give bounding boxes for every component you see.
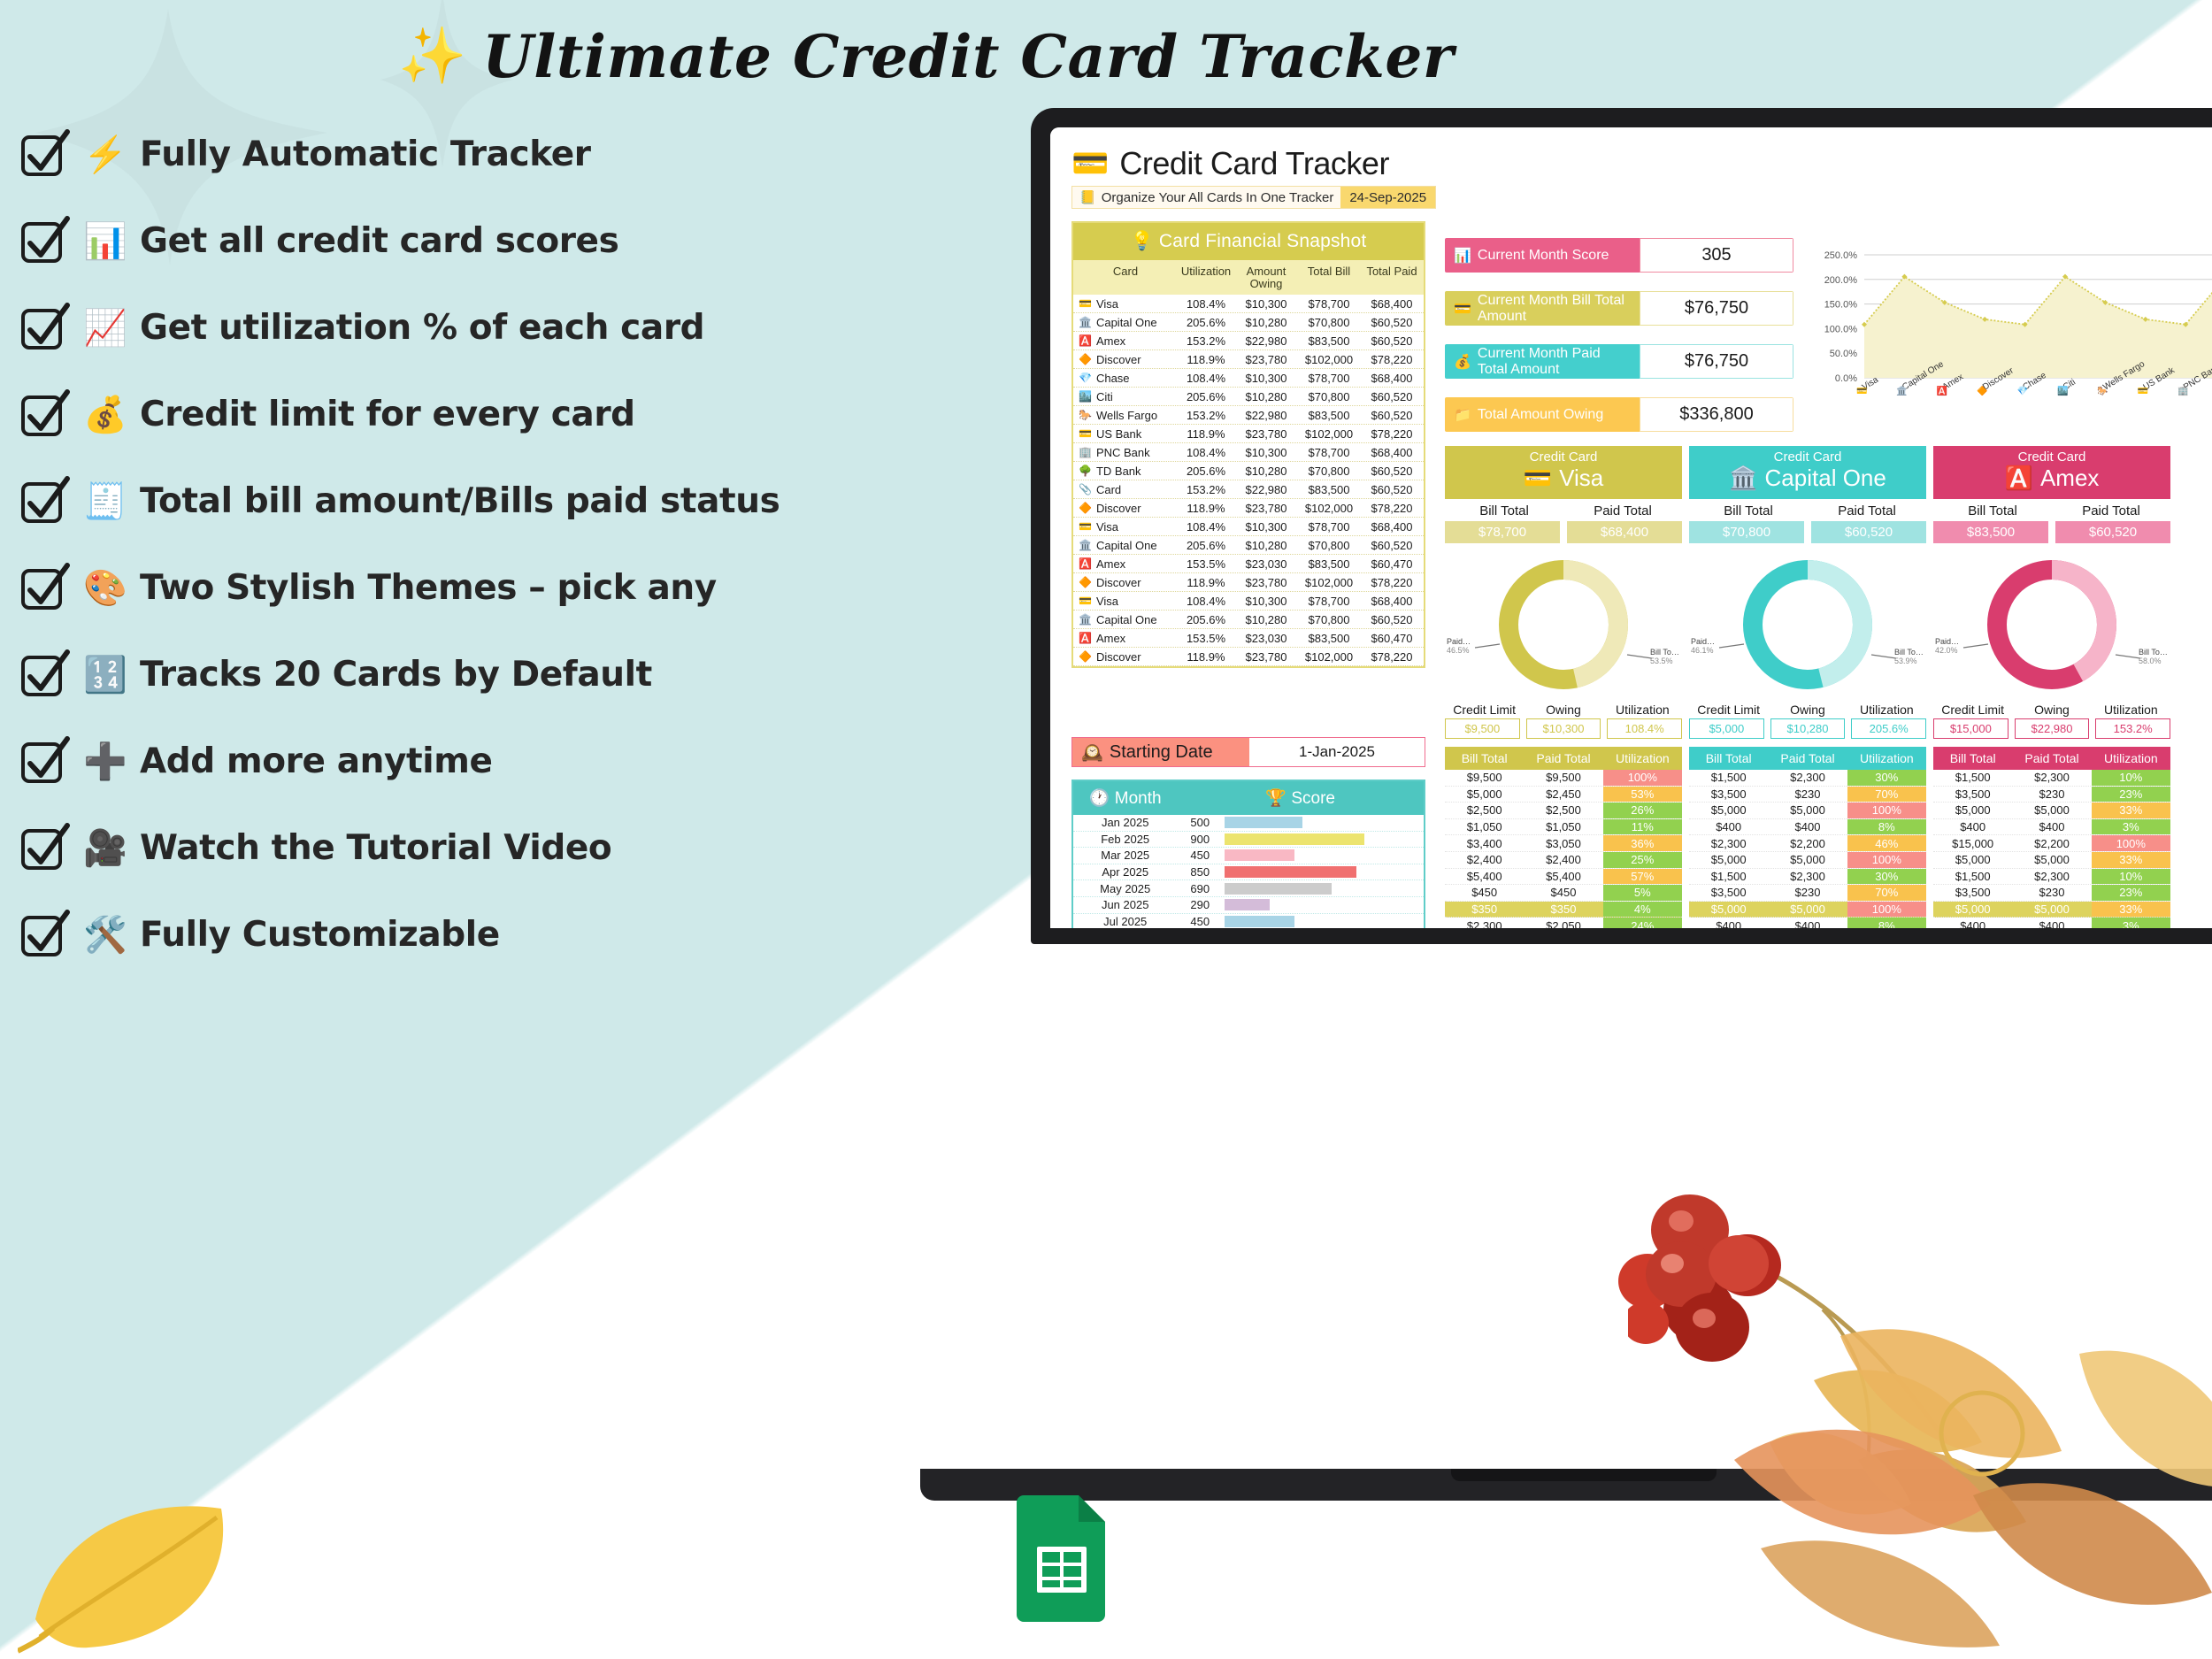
kpi-label: 💰 Current Month Paid Total Amount bbox=[1445, 344, 1640, 379]
snapshot-owing-cell: $23,780 bbox=[1234, 353, 1298, 366]
card-panel-title: 🅰️Amex bbox=[1933, 465, 2170, 492]
snapshot-paid-cell: $60,520 bbox=[1360, 539, 1424, 552]
snapshot-row: 💳US Bank118.9%$23,780$102,000$78,220 bbox=[1073, 425, 1424, 443]
donut-bill-label: Bill To…58.0% bbox=[2139, 648, 2168, 666]
card-name: Capital One bbox=[1096, 316, 1157, 329]
feature-item-4: 🧾Total bill amount/Bills paid status bbox=[19, 457, 657, 544]
snapshot-row: 🔶Discover118.9%$23,780$102,000$78,220 bbox=[1073, 499, 1424, 518]
paid-total-cell: $400 bbox=[2012, 819, 2091, 835]
paid-total-cell: $2,300 bbox=[2012, 869, 2091, 885]
snapshot-col-bill: Total Bill bbox=[1298, 260, 1360, 295]
checkbox-checked-icon bbox=[19, 128, 71, 180]
card-brand-icon: 💎 bbox=[1079, 372, 1092, 384]
feature-label: Two Stylish Themes – pick any bbox=[140, 568, 717, 608]
card-brand-icon: 💳 bbox=[1524, 465, 1552, 492]
snapshot-utilization-cell: 205.6% bbox=[1178, 390, 1234, 403]
snapshot-row: 💳Visa108.4%$10,300$78,700$68,400 bbox=[1073, 518, 1424, 536]
feature-checklist: ⚡Fully Automatic Tracker📊Get all credit … bbox=[19, 111, 657, 978]
checkbox-checked-icon bbox=[19, 649, 71, 700]
bill-total-label: Bill Total bbox=[1445, 503, 1563, 518]
score-bar-cell bbox=[1223, 883, 1424, 895]
snapshot-row: 🏢PNC Bank108.4%$10,300$78,700$68,400 bbox=[1073, 443, 1424, 462]
snapshot-owing-cell: $10,300 bbox=[1234, 595, 1298, 608]
card-name: Amex bbox=[1096, 557, 1125, 571]
paid-total-cell: $5,000 bbox=[1768, 803, 1847, 818]
checkbox-checked-icon bbox=[19, 562, 71, 613]
utilization-cell: 23% bbox=[2092, 787, 2170, 803]
card-table-row: $2,400$2,40025% bbox=[1445, 852, 1682, 869]
svg-text:🅰️: 🅰️ bbox=[1937, 385, 1947, 396]
snapshot-paid-cell: $60,520 bbox=[1360, 316, 1424, 329]
feature-item-6: 🔢Tracks 20 Cards by Default bbox=[19, 631, 657, 718]
kpi-current-month-paid-total: 💰 Current Month Paid Total Amount $76,75… bbox=[1445, 344, 1793, 379]
score-bar bbox=[1225, 817, 1302, 828]
month-cell: Feb 2025 bbox=[1073, 833, 1177, 846]
snapshot-paid-cell: $60,520 bbox=[1360, 465, 1424, 478]
score-bar bbox=[1225, 849, 1294, 861]
snapshot-row: 🔶Discover118.9%$23,780$102,000$78,220 bbox=[1073, 573, 1424, 592]
month-column-header: 🕐 Month bbox=[1073, 781, 1177, 815]
paid-total-cell: $230 bbox=[2012, 787, 2091, 803]
spreadsheet-dashboard: 💳 Credit Card Tracker 📒 Organize Your Al… bbox=[1050, 127, 2212, 928]
card-brand-icon: 🅰️ bbox=[1079, 334, 1092, 347]
score-bar-cell bbox=[1223, 899, 1424, 910]
snapshot-bill-cell: $78,700 bbox=[1298, 372, 1360, 385]
snapshot-paid-cell: $78,220 bbox=[1360, 427, 1424, 441]
laptop-screen: 💳 Credit Card Tracker 📒 Organize Your Al… bbox=[1050, 127, 2212, 928]
card-table-row: $2,500$2,50026% bbox=[1445, 803, 1682, 819]
card-table-row: $400$4003% bbox=[1933, 918, 2170, 928]
utilization-cell: 5% bbox=[1603, 885, 1682, 901]
card-table-row: $1,500$2,30030% bbox=[1689, 869, 1926, 886]
snapshot-owing-cell: $23,030 bbox=[1234, 632, 1298, 645]
month-score-row: May 2025690 bbox=[1073, 880, 1424, 897]
card-table-row: $350$3504% bbox=[1445, 902, 1682, 918]
snapshot-card-cell: 💳Visa bbox=[1073, 520, 1178, 534]
snapshot-card-cell: 🌳TD Bank bbox=[1073, 465, 1178, 478]
card-brand-icon: 🅰️ bbox=[2005, 465, 2033, 492]
card-name: US Bank bbox=[1096, 427, 1141, 441]
snapshot-owing-cell: $23,780 bbox=[1234, 650, 1298, 664]
card-table-row: $1,500$2,30010% bbox=[1933, 869, 2170, 886]
card-table-row: $3,400$3,05036% bbox=[1445, 835, 1682, 852]
card-name: Discover bbox=[1096, 576, 1141, 589]
paid-total-label: Paid Total bbox=[2052, 503, 2170, 518]
card-limit-labels: Credit LimitOwingUtilization bbox=[1933, 703, 2170, 717]
laptop-mockup: 💳 Credit Card Tracker 📒 Organize Your Al… bbox=[1031, 108, 2212, 944]
snapshot-bill-cell: $70,800 bbox=[1298, 390, 1360, 403]
paid-total-value: $60,520 bbox=[2055, 521, 2170, 543]
snapshot-card-cell: 🔶Discover bbox=[1073, 650, 1178, 664]
month-table-header: 🕐 Month 🏆 Score bbox=[1073, 781, 1424, 815]
snapshot-bill-cell: $83,500 bbox=[1298, 409, 1360, 422]
card-name: Visa bbox=[1096, 595, 1118, 608]
utilization-area-chart: 💳 Card 0.0%50.0%100.0%150.0%200.0%250.0%… bbox=[1813, 223, 2212, 440]
card-name: PNC Bank bbox=[1096, 446, 1150, 459]
score-bar-cell bbox=[1223, 833, 1424, 845]
feature-item-2: 📈Get utilization % of each card bbox=[19, 284, 657, 371]
kpi-label: 📊 Current Month Score bbox=[1445, 238, 1640, 273]
card-table-row: $2,300$2,20046% bbox=[1689, 835, 1926, 852]
card-panel-name: Capital One bbox=[1765, 465, 1886, 492]
card-brand-icon: 📎 bbox=[1079, 483, 1092, 495]
card-brand-icon: 🅰️ bbox=[1079, 632, 1092, 644]
card-limit-values: $5,000$10,280205.6% bbox=[1689, 718, 1926, 739]
paid-total-cell: $450 bbox=[1524, 885, 1602, 901]
feature-label: Watch the Tutorial Video bbox=[140, 828, 611, 868]
snapshot-row: 💎Chase108.4%$10,300$78,700$68,400 bbox=[1073, 369, 1424, 388]
card-total-values: $70,800$60,520 bbox=[1689, 521, 1926, 543]
card-limit-labels: Credit LimitOwingUtilization bbox=[1445, 703, 1682, 717]
snapshot-paid-cell: $60,520 bbox=[1360, 613, 1424, 626]
score-value: 450 bbox=[1177, 915, 1223, 928]
month-score-table: 🕐 Month 🏆 Score Jan 2025500Feb 2025900Ma… bbox=[1071, 780, 1425, 928]
owing-value: $22,980 bbox=[2015, 718, 2090, 739]
utilization-cell: 10% bbox=[2092, 770, 2170, 786]
month-score-row: Mar 2025450 bbox=[1073, 848, 1424, 864]
score-bar-cell bbox=[1223, 817, 1424, 828]
kpi-label: 💳 Current Month Bill Total Amount bbox=[1445, 291, 1640, 326]
snapshot-card-cell: 🏙️Citi bbox=[1073, 390, 1178, 403]
score-value: 290 bbox=[1177, 898, 1223, 911]
card-panel-subtitle: Credit Card bbox=[1689, 449, 1926, 465]
bill-total-cell: $3,500 bbox=[1689, 885, 1768, 901]
utilization-cell: 33% bbox=[2092, 902, 2170, 918]
bill-total-label: Bill Total bbox=[1689, 503, 1808, 518]
snapshot-bill-cell: $102,000 bbox=[1298, 650, 1360, 664]
snapshot-paid-cell: $68,400 bbox=[1360, 446, 1424, 459]
card-limit-values: $9,500$10,300108.4% bbox=[1445, 718, 1682, 739]
card-name: Capital One bbox=[1096, 539, 1157, 552]
snapshot-bill-cell: $83,500 bbox=[1298, 483, 1360, 496]
score-bar bbox=[1225, 833, 1364, 845]
feature-label: Tracks 20 Cards by Default bbox=[140, 655, 652, 695]
paid-total-cell: $2,300 bbox=[1768, 770, 1847, 786]
snapshot-bill-cell: $78,700 bbox=[1298, 297, 1360, 311]
snapshot-paid-cell: $60,520 bbox=[1360, 483, 1424, 496]
card-brand-icon: 🏙️ bbox=[1079, 390, 1092, 403]
feature-item-8: 🎥Watch the Tutorial Video bbox=[19, 804, 657, 891]
snapshot-owing-cell: $10,300 bbox=[1234, 297, 1298, 311]
snapshot-utilization-cell: 153.2% bbox=[1178, 409, 1234, 422]
utilization-cell: 33% bbox=[2092, 803, 2170, 818]
score-bar bbox=[1225, 899, 1270, 910]
month-cell: Apr 2025 bbox=[1073, 865, 1177, 879]
snapshot-owing-cell: $23,780 bbox=[1234, 502, 1298, 515]
card-name: Citi bbox=[1096, 390, 1113, 403]
utilization-label: Utilization bbox=[2092, 703, 2170, 717]
owing-value: $10,280 bbox=[1770, 718, 1846, 739]
snapshot-utilization-cell: 118.9% bbox=[1178, 353, 1234, 366]
card-table-row: $1,050$1,05011% bbox=[1445, 819, 1682, 836]
sheet-subtitle-bar: 📒 Organize Your All Cards In One Tracker… bbox=[1071, 186, 1436, 209]
lightning-icon: ⚡ bbox=[83, 134, 127, 175]
snapshot-paid-cell: $68,400 bbox=[1360, 520, 1424, 534]
bill-total-value: $83,500 bbox=[1933, 521, 2048, 543]
snapshot-utilization-cell: 205.6% bbox=[1178, 465, 1234, 478]
card-brand-icon: 🔶 bbox=[1079, 502, 1092, 514]
card-total-labels: Bill TotalPaid Total bbox=[1933, 503, 2170, 518]
paid-total-col: Paid Total bbox=[2012, 747, 2091, 770]
checkbox-checked-icon bbox=[19, 215, 71, 266]
owing-label: Owing bbox=[1768, 703, 1847, 717]
card-table-row: $3,500$23023% bbox=[1933, 885, 2170, 902]
utilization-cell: 30% bbox=[1847, 869, 1926, 885]
card-total-labels: Bill TotalPaid Total bbox=[1689, 503, 1926, 518]
utilization-cell: 70% bbox=[1847, 787, 1926, 803]
snapshot-row: 🅰️Amex153.2%$22,980$83,500$60,520 bbox=[1073, 332, 1424, 350]
bill-total-value: $70,800 bbox=[1689, 521, 1804, 543]
snapshot-utilization-cell: 205.6% bbox=[1178, 539, 1234, 552]
card-name: Discover bbox=[1096, 353, 1141, 366]
card-table-row: $15,000$2,200100% bbox=[1933, 835, 2170, 852]
kpi-total-amount-owing: 📁 Total Amount Owing $336,800 bbox=[1445, 397, 1793, 432]
paid-total-cell: $230 bbox=[2012, 885, 2091, 901]
bill-total-cell: $400 bbox=[1689, 918, 1768, 928]
card-table-row: $450$4505% bbox=[1445, 885, 1682, 902]
svg-text:🔶: 🔶 bbox=[1977, 385, 1987, 396]
score-value: 450 bbox=[1177, 849, 1223, 862]
card-brand-icon: 🏛️ bbox=[1079, 613, 1092, 626]
bill-total-col: Bill Total bbox=[1933, 747, 2012, 770]
paid-total-cell: $5,000 bbox=[2012, 803, 2091, 818]
snapshot-owing-cell: $10,280 bbox=[1234, 316, 1298, 329]
kpi-current-month-score: 📊 Current Month Score 305 bbox=[1445, 238, 1793, 273]
card-table-row: $9,500$9,500100% bbox=[1445, 770, 1682, 787]
card-limit-values: $15,000$22,980153.2% bbox=[1933, 718, 2170, 739]
checkbox-checked-icon bbox=[19, 475, 71, 526]
snapshot-row: 🏛️Capital One205.6%$10,280$70,800$60,520 bbox=[1073, 313, 1424, 332]
snapshot-bill-cell: $78,700 bbox=[1298, 595, 1360, 608]
paid-total-cell: $2,300 bbox=[2012, 770, 2091, 786]
score-bar-cell bbox=[1223, 916, 1424, 927]
donut-bill-label: Bill To…53.9% bbox=[1894, 648, 1924, 666]
utilization-cell: 3% bbox=[2092, 819, 2170, 835]
feature-item-3: 💰Credit limit for every card bbox=[19, 371, 657, 457]
page-title-text: Ultimate Credit Card Tracker bbox=[482, 22, 1454, 91]
snapshot-bill-cell: $78,700 bbox=[1298, 446, 1360, 459]
card-total-values: $78,700$68,400 bbox=[1445, 521, 1682, 543]
donut-bill-text: Bill To… bbox=[2139, 648, 2168, 657]
bill-total-cell: $5,000 bbox=[1933, 852, 2012, 868]
notebook-icon: 📒 bbox=[1079, 189, 1096, 205]
paid-total-cell: $2,400 bbox=[1524, 852, 1602, 868]
card-brand-icon: 💳 bbox=[1079, 297, 1092, 310]
card-name: Visa bbox=[1096, 297, 1118, 311]
month-score-row: Jul 2025450 bbox=[1073, 914, 1424, 928]
bill-total-col: Bill Total bbox=[1445, 747, 1524, 770]
svg-text:🏛️: 🏛️ bbox=[1896, 385, 1907, 396]
paid-total-cell: $2,200 bbox=[1768, 835, 1847, 851]
utilization-cell: 70% bbox=[1847, 885, 1926, 901]
snapshot-owing-cell: $23,780 bbox=[1234, 576, 1298, 589]
utilization-col: Utilization bbox=[1603, 747, 1682, 770]
bill-total-cell: $1,500 bbox=[1933, 770, 2012, 786]
snapshot-card-cell: 📎Card bbox=[1073, 483, 1178, 496]
card-brand-icon: 🔶 bbox=[1079, 650, 1092, 663]
utilization-cell: 100% bbox=[1603, 770, 1682, 786]
snapshot-utilization-cell: 153.2% bbox=[1178, 483, 1234, 496]
utilization-cell: 4% bbox=[1603, 902, 1682, 918]
starting-date-label: 🕰️ Starting Date bbox=[1072, 738, 1249, 766]
snapshot-owing-cell: $10,280 bbox=[1234, 539, 1298, 552]
donut-bill-pct: 53.9% bbox=[1894, 657, 1917, 665]
donut-paid-text: Paid… bbox=[1447, 637, 1471, 646]
credit-card-icon: 💳 bbox=[1454, 300, 1471, 318]
snapshot-owing-cell: $10,280 bbox=[1234, 390, 1298, 403]
snapshot-paid-cell: $78,220 bbox=[1360, 576, 1424, 589]
feature-item-0: ⚡Fully Automatic Tracker bbox=[19, 111, 657, 197]
score-bar-cell bbox=[1223, 849, 1424, 861]
svg-text:250.0%: 250.0% bbox=[1824, 250, 1858, 261]
month-score-row: Jun 2025290 bbox=[1073, 897, 1424, 914]
checkbox-checked-icon bbox=[19, 388, 71, 440]
starting-date-field[interactable]: 🕰️ Starting Date 1-Jan-2025 bbox=[1071, 737, 1425, 767]
snapshot-utilization-cell: 118.9% bbox=[1178, 650, 1234, 664]
card-name: Discover bbox=[1096, 502, 1141, 515]
bill-total-cell: $1,500 bbox=[1933, 869, 2012, 885]
snapshot-col-card: Card bbox=[1073, 260, 1178, 295]
card-panel-header: Credit Card🅰️Amex bbox=[1933, 446, 2170, 499]
sheet-title-text: Credit Card Tracker bbox=[1119, 145, 1389, 182]
snapshot-owing-cell: $10,280 bbox=[1234, 465, 1298, 478]
card-brand-icon: 🅰️ bbox=[1079, 557, 1092, 570]
score-bar bbox=[1225, 916, 1294, 927]
paid-total-cell: $400 bbox=[1768, 918, 1847, 928]
feature-label: Get all credit card scores bbox=[140, 221, 618, 261]
utilization-cell: 11% bbox=[1603, 819, 1682, 835]
feature-label: Credit limit for every card bbox=[140, 395, 635, 434]
snapshot-rows: 💳Visa108.4%$10,300$78,700$68,400🏛️Capita… bbox=[1073, 295, 1424, 666]
bill-total-cell: $2,300 bbox=[1445, 918, 1524, 928]
svg-text:100.0%: 100.0% bbox=[1824, 324, 1858, 334]
credit-limit-label: Credit Limit bbox=[1445, 703, 1524, 717]
utilization-col: Utilization bbox=[1847, 747, 1926, 770]
snapshot-utilization-cell: 108.4% bbox=[1178, 595, 1234, 608]
month-cell: May 2025 bbox=[1073, 882, 1177, 895]
snapshot-bill-cell: $83,500 bbox=[1298, 632, 1360, 645]
snapshot-row: 🏛️Capital One205.6%$10,280$70,800$60,520 bbox=[1073, 611, 1424, 629]
bill-total-cell: $3,500 bbox=[1689, 787, 1768, 803]
donut-bill-text: Bill To… bbox=[1650, 648, 1679, 657]
snapshot-paid-cell: $60,520 bbox=[1360, 409, 1424, 422]
donut-paid-label: Paid…46.5% bbox=[1447, 637, 1471, 656]
snapshot-row: 📎Card153.2%$22,980$83,500$60,520 bbox=[1073, 480, 1424, 499]
bill-total-cell: $400 bbox=[1689, 819, 1768, 835]
snapshot-paid-cell: $68,400 bbox=[1360, 297, 1424, 311]
credit-limit-value: $15,000 bbox=[1933, 718, 2008, 739]
utilization-cell: 8% bbox=[1847, 918, 1926, 928]
snapshot-owing-cell: $10,300 bbox=[1234, 446, 1298, 459]
money-bag-icon: 💰 bbox=[83, 394, 127, 435]
card-table-row: $5,000$5,00033% bbox=[1933, 902, 2170, 918]
card-panel-subtitle: Credit Card bbox=[1445, 449, 1682, 465]
utilization-cell: 33% bbox=[2092, 852, 2170, 868]
snapshot-row: 💳Visa108.4%$10,300$78,700$68,400 bbox=[1073, 295, 1424, 313]
owing-label: Owing bbox=[2012, 703, 2091, 717]
card-panel-name: Amex bbox=[2040, 465, 2099, 492]
paid-total-cell: $400 bbox=[2012, 918, 2091, 928]
snapshot-bill-cell: $70,800 bbox=[1298, 539, 1360, 552]
card-panel-header: Credit Card🏛️Capital One bbox=[1689, 446, 1926, 499]
card-brand-icon: 💳 bbox=[1079, 427, 1092, 440]
svg-text:🏢: 🏢 bbox=[2177, 386, 2188, 396]
starting-date-value[interactable]: 1-Jan-2025 bbox=[1249, 738, 1425, 766]
snapshot-bill-cell: $102,000 bbox=[1298, 502, 1360, 515]
card-table-row: $1,500$2,30010% bbox=[1933, 770, 2170, 787]
card-table-row: $2,300$2,05024% bbox=[1445, 918, 1682, 928]
card-donut-chart: Paid…46.5%Bill To…53.5% bbox=[1445, 549, 1682, 701]
paid-total-cell: $400 bbox=[1768, 819, 1847, 835]
snapshot-utilization-cell: 205.6% bbox=[1178, 316, 1234, 329]
paid-total-cell: $2,500 bbox=[1524, 803, 1602, 818]
score-value: 500 bbox=[1177, 816, 1223, 829]
kpi-label-text: Current Month Paid Total Amount bbox=[1478, 346, 1631, 378]
card-table-row: $5,000$2,45053% bbox=[1445, 787, 1682, 803]
utilization-cell: 53% bbox=[1603, 787, 1682, 803]
kpi-label-text: Total Amount Owing bbox=[1478, 407, 1603, 423]
card-table-row: $5,000$5,000100% bbox=[1689, 852, 1926, 869]
owing-value: $10,300 bbox=[1526, 718, 1601, 739]
card-panel-title: 💳Visa bbox=[1445, 465, 1682, 492]
snapshot-row: 🔶Discover118.9%$23,780$102,000$78,220 bbox=[1073, 350, 1424, 369]
google-sheets-logo bbox=[1013, 1495, 1110, 1624]
card-table-header: Bill TotalPaid TotalUtilization bbox=[1445, 747, 1682, 770]
card-table-header: Bill TotalPaid TotalUtilization bbox=[1933, 747, 2170, 770]
snapshot-card-cell: 💳Visa bbox=[1073, 297, 1178, 311]
utilization-cell: 30% bbox=[1847, 770, 1926, 786]
bill-total-cell: $15,000 bbox=[1933, 835, 2012, 851]
sheet-date: 24-Sep-2025 bbox=[1340, 187, 1435, 208]
donut-paid-label: Paid…42.0% bbox=[1935, 637, 1959, 656]
paid-total-cell: $5,000 bbox=[2012, 852, 2091, 868]
bill-total-cell: $350 bbox=[1445, 902, 1524, 918]
paid-total-value: $68,400 bbox=[1567, 521, 1682, 543]
owing-label: Owing bbox=[1524, 703, 1602, 717]
snapshot-utilization-cell: 153.5% bbox=[1178, 557, 1234, 571]
snapshot-owing-cell: $10,300 bbox=[1234, 372, 1298, 385]
bill-total-cell: $2,400 bbox=[1445, 852, 1524, 868]
snapshot-utilization-cell: 153.5% bbox=[1178, 632, 1234, 645]
yellow-leaf-decoration bbox=[18, 1486, 257, 1655]
utilization-cell: 8% bbox=[1847, 819, 1926, 835]
month-score-row: Jan 2025500 bbox=[1073, 815, 1424, 832]
svg-text:💎: 💎 bbox=[2017, 386, 2028, 396]
snapshot-card-cell: 💳Visa bbox=[1073, 595, 1178, 608]
page-title: ✨ Ultimate Credit Card Tracker bbox=[398, 12, 1460, 101]
svg-text:💳: 💳 bbox=[1856, 387, 1867, 396]
paid-total-cell: $2,050 bbox=[1524, 918, 1602, 928]
card-table-row: $400$4003% bbox=[1933, 819, 2170, 836]
utilization-value: 205.6% bbox=[1851, 718, 1926, 739]
bill-total-cell: $5,000 bbox=[1933, 803, 2012, 818]
card-table-row: $3,500$23070% bbox=[1689, 787, 1926, 803]
card-brand-icon: 🏛️ bbox=[1729, 465, 1757, 492]
bill-total-cell: $2,300 bbox=[1689, 835, 1768, 851]
score-value: 850 bbox=[1177, 865, 1223, 879]
paid-total-cell: $5,000 bbox=[1768, 852, 1847, 868]
score-bar bbox=[1225, 883, 1332, 895]
bar-chart-icon: 📊 bbox=[1454, 247, 1471, 265]
utilization-label: Utilization bbox=[1603, 703, 1682, 717]
snapshot-utilization-cell: 108.4% bbox=[1178, 372, 1234, 385]
snapshot-paid-cell: $60,470 bbox=[1360, 557, 1424, 571]
movie-camera-icon: 🎥 bbox=[83, 827, 127, 869]
card-table-row: $400$4008% bbox=[1689, 918, 1926, 928]
snapshot-paid-cell: $78,220 bbox=[1360, 353, 1424, 366]
card-table-row: $1,500$2,30030% bbox=[1689, 770, 1926, 787]
snapshot-card-cell: 🏛️Capital One bbox=[1073, 613, 1178, 626]
